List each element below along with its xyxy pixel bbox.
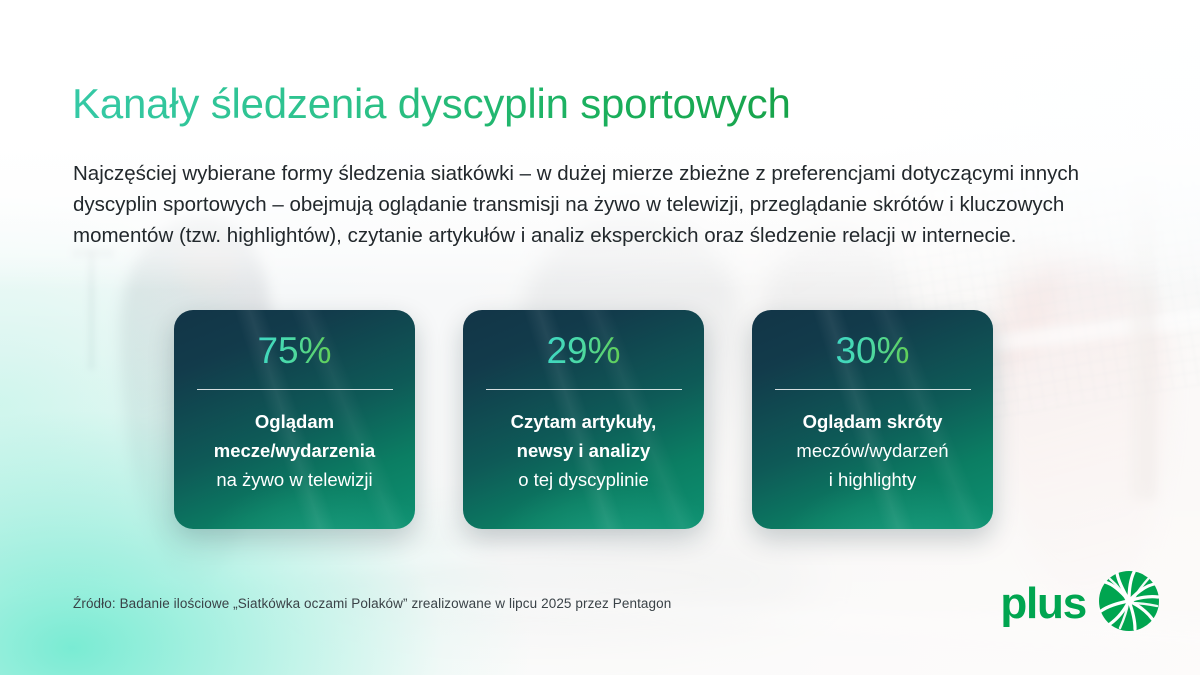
stat-card-group: 75% Oglądam mecze/wydarzenia na żywo w t… <box>174 310 993 529</box>
stat-label-line: o tej dyscyplinie <box>511 465 657 494</box>
stat-divider <box>775 389 971 390</box>
source-note: Źródło: Badanie ilościowe „Siatkówka ocz… <box>73 596 671 611</box>
slide-content: Kanały śledzenia dyscyplin sportowych Na… <box>0 0 1200 675</box>
stat-label-line: Czytam artykuły, <box>511 407 657 436</box>
stat-card: 30% Oglądam skróty meczów/wydarzeń i hig… <box>752 310 993 529</box>
stat-value: 75% <box>257 332 331 369</box>
stat-label-line: mecze/wydarzenia <box>214 436 375 465</box>
stat-label-line: na żywo w telewizji <box>214 465 375 494</box>
stat-label-line: Oglądam <box>214 407 375 436</box>
stat-divider <box>486 389 682 390</box>
volleyball-icon <box>1098 570 1160 637</box>
plus-wordmark: plus <box>1000 582 1086 626</box>
stat-card: 75% Oglądam mecze/wydarzenia na żywo w t… <box>174 310 415 529</box>
stat-label: Oglądam skróty meczów/wydarzeń i highlig… <box>786 407 958 494</box>
plus-logo: plus <box>1000 570 1160 637</box>
stat-label-line: Oglądam skróty <box>796 407 948 436</box>
page-title: Kanały śledzenia dyscyplin sportowych <box>72 80 791 128</box>
stat-label-line: i highlighty <box>796 465 948 494</box>
stat-value: 30% <box>835 332 909 369</box>
stat-label: Oglądam mecze/wydarzenia na żywo w telew… <box>204 407 385 494</box>
stat-label-line: newsy i analizy <box>511 436 657 465</box>
stat-label-line: meczów/wydarzeń <box>796 436 948 465</box>
stat-card: 29% Czytam artykuły, newsy i analizy o t… <box>463 310 704 529</box>
slide: Kanały śledzenia dyscyplin sportowych Na… <box>0 0 1200 675</box>
stat-divider <box>197 389 393 390</box>
intro-paragraph: Najczęściej wybierane formy śledzenia si… <box>73 158 1133 251</box>
stat-value: 29% <box>546 332 620 369</box>
stat-label: Czytam artykuły, newsy i analizy o tej d… <box>501 407 667 494</box>
